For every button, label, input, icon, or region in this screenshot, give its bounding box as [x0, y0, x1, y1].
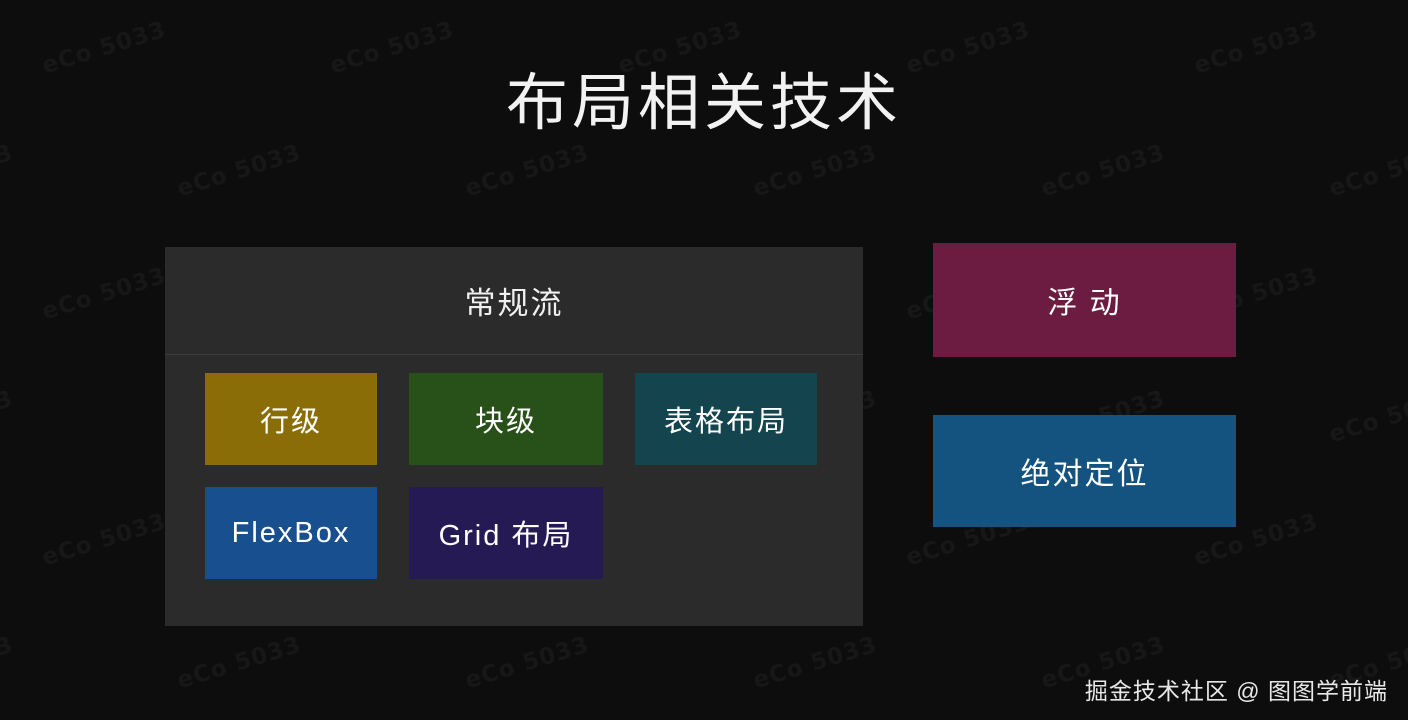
- normal-flow-header: 常规流: [165, 247, 863, 355]
- flow-box-FlexBox[interactable]: FlexBox: [205, 487, 377, 579]
- watermark-text: eCo 5033: [0, 386, 16, 448]
- footer-credit: 掘金技术社区 @ 图图学前端: [1085, 672, 1388, 706]
- watermark-text: eCo 5033: [174, 632, 304, 694]
- watermark-text: eCo 5033: [462, 140, 592, 202]
- watermark-text: eCo 5033: [1326, 386, 1408, 448]
- normal-flow-row: FlexBoxGrid 布局: [205, 487, 863, 579]
- side-box-float[interactable]: 浮 动: [933, 243, 1236, 357]
- flow-box-Grid 布局[interactable]: Grid 布局: [409, 487, 603, 579]
- normal-flow-body: 行级块级表格布局FlexBoxGrid 布局: [165, 355, 863, 579]
- side-box-absolute[interactable]: 绝对定位: [933, 415, 1236, 527]
- watermark-text: eCo 5033: [174, 140, 304, 202]
- normal-flow-row: 行级块级表格布局: [205, 373, 863, 465]
- watermark-text: eCo 5033: [462, 632, 592, 694]
- flow-box-块级[interactable]: 块级: [409, 373, 603, 465]
- flow-box-行级[interactable]: 行级: [205, 373, 377, 465]
- watermark-text: eCo 5033: [39, 509, 169, 571]
- watermark-text: eCo 5033: [1326, 140, 1408, 202]
- side-items-column: 浮 动绝对定位: [933, 243, 1236, 527]
- watermark-text: eCo 5033: [0, 140, 16, 202]
- normal-flow-panel: 常规流 行级块级表格布局FlexBoxGrid 布局: [165, 247, 863, 626]
- watermark-text: eCo 5033: [0, 632, 16, 694]
- watermark-text: eCo 5033: [750, 140, 880, 202]
- flow-box-表格布局[interactable]: 表格布局: [635, 373, 817, 465]
- normal-flow-title: 常规流: [465, 278, 564, 323]
- watermark-text: eCo 5033: [750, 632, 880, 694]
- page-title: 布局相关技术: [0, 52, 1408, 142]
- watermark-text: eCo 5033: [1038, 140, 1168, 202]
- watermark-text: eCo 5033: [39, 263, 169, 325]
